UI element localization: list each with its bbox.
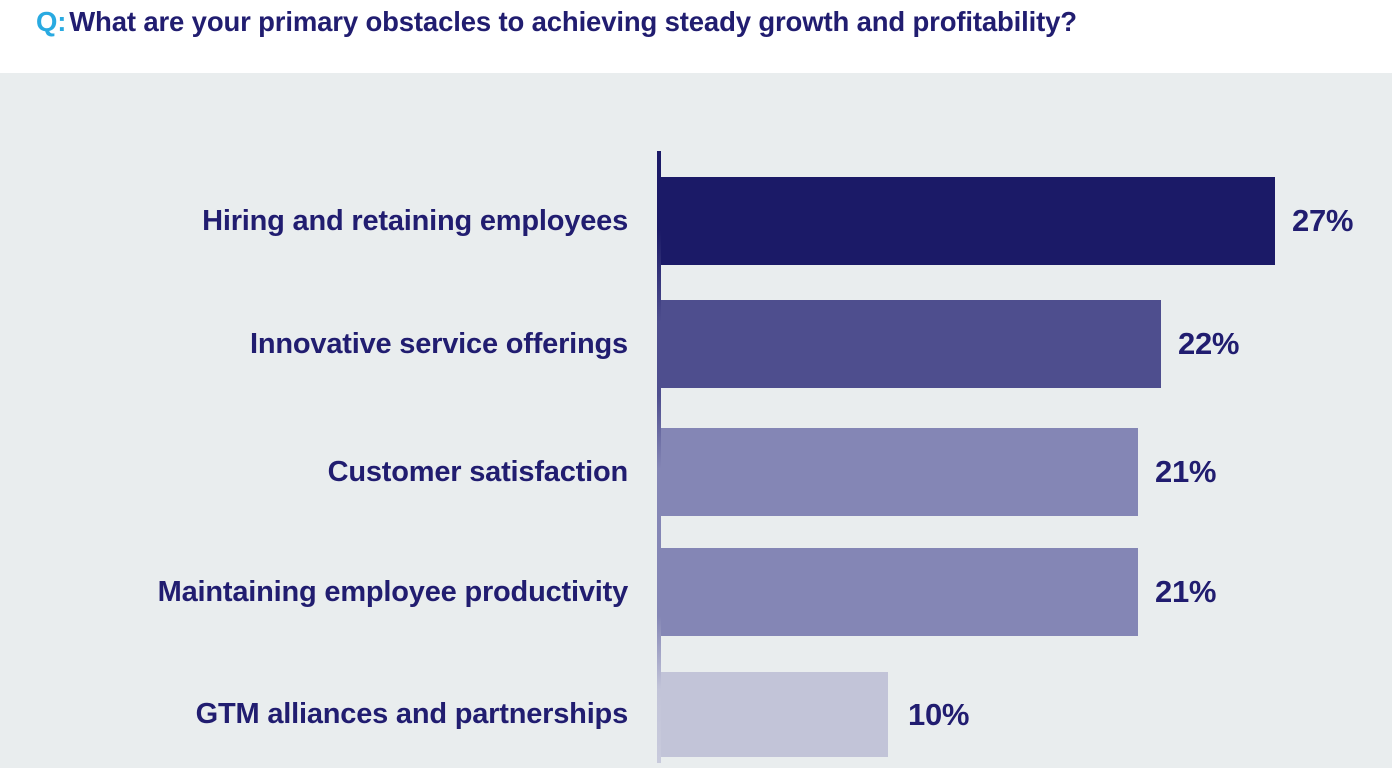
bar-value-label: 21% [1155,548,1216,636]
bar-segment [661,672,888,757]
bar-category-label: Maintaining employee productivity [0,548,628,636]
bar-segment [661,428,1138,516]
table-row: GTM alliances and partnerships 10% [0,672,1392,757]
bar-segment [661,177,1275,265]
table-row: Customer satisfaction 21% [0,428,1392,516]
bar-segment [661,548,1138,636]
bar-value-label: 21% [1155,428,1216,516]
bar-segment [661,300,1161,388]
header-band: Q:What are your primary obstacles to ach… [0,0,1392,73]
bar-value-label: 22% [1178,300,1239,388]
bar-category-label: Hiring and retaining employees [0,177,628,265]
bar-category-label: GTM alliances and partnerships [0,672,628,757]
question-prefix-label: Q: [36,6,66,37]
bar-value-label: 27% [1292,177,1353,265]
chart-page: Q:What are your primary obstacles to ach… [0,0,1392,768]
table-row: Hiring and retaining employees 27% [0,177,1392,265]
table-row: Innovative service offerings 22% [0,300,1392,388]
chart-panel: Hiring and retaining employees 27% Innov… [0,73,1392,768]
bar-value-label: 10% [908,672,969,757]
question-text: What are your primary obstacles to achie… [69,6,1077,37]
page-title: Q:What are your primary obstacles to ach… [36,2,1376,42]
table-row: Maintaining employee productivity 21% [0,548,1392,636]
bar-category-label: Innovative service offerings [0,300,628,388]
bar-category-label: Customer satisfaction [0,428,628,516]
